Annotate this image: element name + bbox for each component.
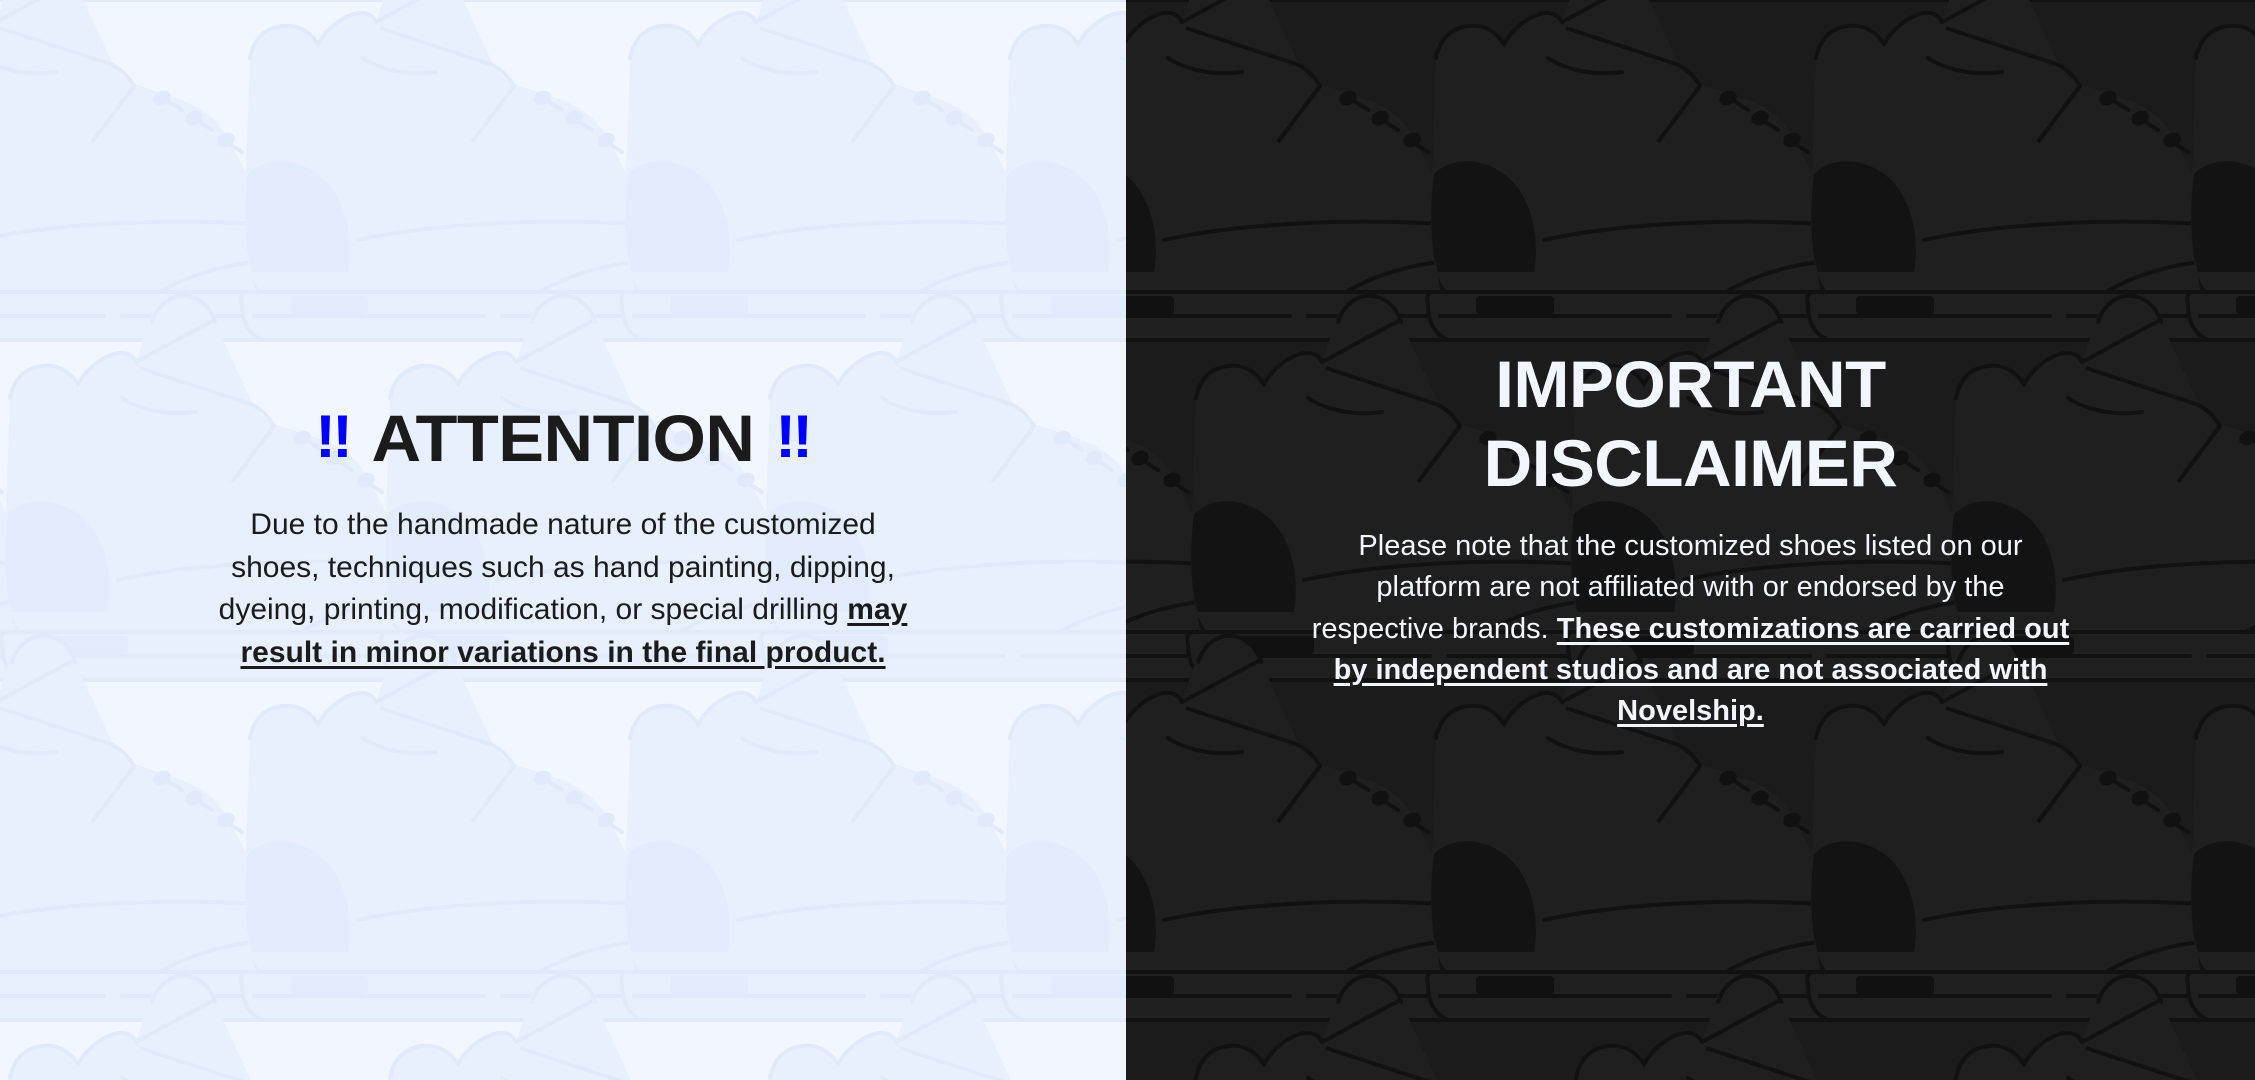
attention-body: Due to the handmade nature of the custom… — [213, 504, 913, 676]
disclaimer-heading-line1: IMPORTANT — [1495, 347, 1886, 422]
disclaimer-panel: IMPORTANT DISCLAIMER Please note that th… — [1126, 0, 2255, 1080]
attention-body-normal: Due to the handmade nature of the custom… — [219, 508, 895, 627]
attention-heading: ‼ ATTENTION ‼ — [19, 405, 1107, 473]
disclaimer-content: IMPORTANT DISCLAIMER Please note that th… — [1126, 347, 2255, 733]
attention-content: ‼ ATTENTION ‼ Due to the handmade nature… — [0, 405, 1126, 676]
double-exclamation-icon-left: ‼ — [315, 407, 351, 467]
attention-panel: ‼ ATTENTION ‼ Due to the handmade nature… — [0, 0, 1126, 1080]
double-exclamation-icon-right: ‼ — [775, 407, 811, 467]
disclaimer-heading: IMPORTANT DISCLAIMER — [1156, 347, 2226, 501]
disclaimer-body: Please note that the customized shoes li… — [1311, 526, 2071, 733]
attention-heading-text: ATTENTION — [372, 405, 755, 473]
disclaimer-heading-line2: DISCLAIMER — [1484, 426, 1898, 501]
